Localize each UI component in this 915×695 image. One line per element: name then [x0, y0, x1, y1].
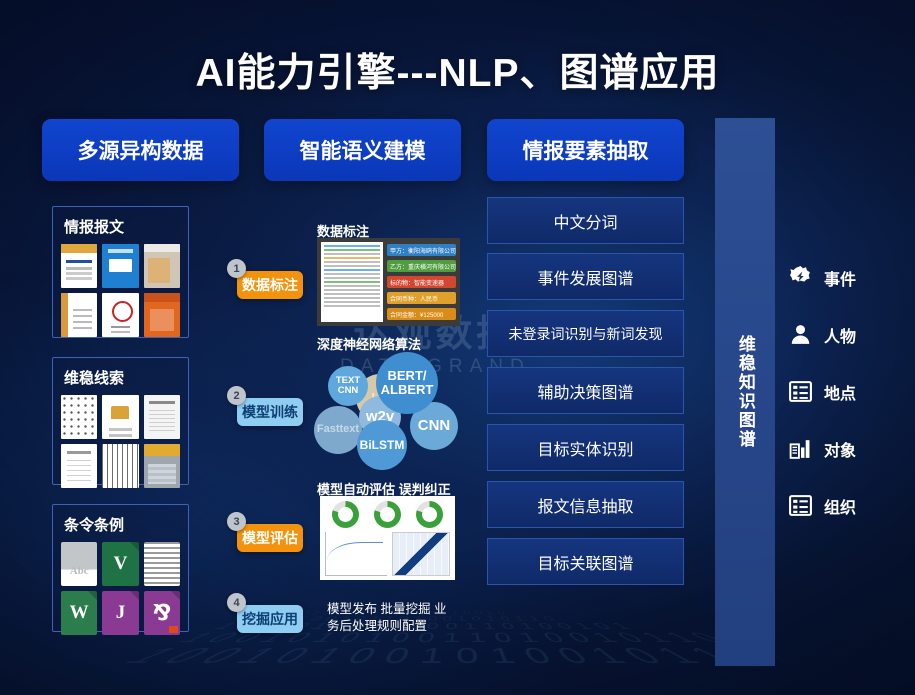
entity-tag-list: 甲方：衡阳海鸥有限公司 乙方：重庆横河有限公司 标的物：智能变速器 合同币种：人… [387, 242, 456, 322]
legend-item-organization[interactable]: 组织 [788, 493, 856, 518]
model-bubble-bilstm: BiLSTM [357, 420, 407, 470]
legend-label: 组织 [824, 494, 856, 518]
doc-line [324, 249, 380, 251]
source-panel-title: 情报报文 [64, 216, 180, 237]
model-bubble-label: CNN [418, 418, 451, 434]
document-thumbnail-grid [61, 244, 180, 337]
model-bubble-textcnn: TEXTCNN [328, 366, 368, 406]
entity-tag: 乙方：重庆横河有限公司 [387, 260, 456, 272]
page-title: AI能力引擎---NLP、图谱应用 [0, 42, 915, 98]
entity-tag: 合同金额：¥125000 [387, 308, 456, 320]
line-chart [325, 532, 387, 576]
capability-item-oov-discovery[interactable]: 未登录词识别与新词发现 [487, 310, 684, 357]
model-bubble-fasttext: Fasttext [314, 406, 362, 454]
doc-line [324, 301, 380, 303]
list-icon [788, 379, 813, 404]
event-burst-icon [788, 265, 813, 290]
annotation-screenshot: 甲方：衡阳海鸥有限公司 乙方：重庆横河有限公司 标的物：智能变速器 合同币种：人… [317, 238, 460, 326]
document-thumbnail [144, 395, 180, 439]
source-panel-title: 维稳线索 [64, 367, 180, 388]
entity-tag: 合同币种：人民币 [387, 292, 456, 304]
excel-file-icon: V [102, 542, 138, 586]
doc-line [324, 245, 380, 247]
model-bubble-bert-albert: BERT/ALBERT [376, 352, 438, 414]
document-thumbnail [102, 293, 138, 337]
step-chip-model-evaluation[interactable]: 3 模型评估 [237, 524, 303, 552]
document-thumbnail-grid [61, 395, 180, 488]
chart-row [325, 532, 450, 576]
legend-item-location[interactable]: 地点 [788, 379, 856, 404]
knowledge-graph-bar-label: 维稳知识图谱 [735, 335, 755, 449]
step-number: 3 [227, 512, 246, 531]
legend-item-person[interactable]: 人物 [788, 322, 856, 347]
step-chip-data-annotation[interactable]: 1 数据标注 [237, 271, 303, 299]
source-panel-regulations: 条令条例 Abc V W J ⅋ [52, 504, 189, 632]
document-thumbnail [61, 244, 97, 288]
donut-gauge [332, 501, 359, 528]
doc-line [324, 297, 380, 299]
step-number: 1 [227, 259, 246, 278]
source-panel-stability-clues: 维稳线索 [52, 357, 189, 485]
pdf-file-icon: ⅋ [144, 591, 180, 635]
doc-line [324, 273, 380, 275]
doc-line [324, 261, 380, 263]
document-thumbnail [61, 395, 97, 439]
donut-gauge [374, 501, 401, 528]
step-number: 2 [227, 386, 246, 405]
doc-line [324, 269, 380, 271]
word-file-icon: W [61, 591, 97, 635]
annotation-document-preview [321, 242, 383, 322]
file-icon-grid: Abc V W J ⅋ [61, 542, 180, 635]
gauge-row [325, 501, 450, 528]
document-thumbnail [61, 293, 97, 337]
step-label: 模型评估 [242, 528, 298, 548]
capability-item-entity-recognition[interactable]: 目标实体识别 [487, 424, 684, 471]
source-panel-title: 条令条例 [64, 514, 180, 535]
step-label: 模型训练 [242, 402, 298, 422]
document-thumbnail [102, 244, 138, 288]
legend-label: 事件 [824, 266, 856, 290]
doc-line [324, 281, 380, 283]
doc-line [324, 257, 380, 259]
capability-item-word-segmentation[interactable]: 中文分词 [487, 197, 684, 244]
legend-item-object[interactable]: 对象 [788, 436, 856, 461]
donut-gauge [416, 501, 443, 528]
buildings-chart-icon [788, 436, 813, 461]
model-bubble-label: Fasttext [317, 424, 359, 436]
document-thumbnail [144, 444, 180, 488]
legend-label: 地点 [824, 380, 856, 404]
list-icon [788, 493, 813, 518]
plain-document-icon [144, 542, 180, 586]
confusion-matrix-heatmap [392, 532, 450, 576]
entity-tag: 标的物：智能变速器 [387, 276, 456, 288]
person-icon [788, 322, 813, 347]
step-chip-mining-application[interactable]: 4 挖掘应用 [237, 605, 303, 633]
json-file-icon: J [102, 591, 138, 635]
header-pill-semantic-modeling[interactable]: 智能语义建模 [264, 119, 461, 181]
doc-line [324, 253, 380, 255]
capability-item-decision-graph[interactable]: 辅助决策图谱 [487, 367, 684, 414]
header-pill-element-extraction[interactable]: 情报要素抽取 [487, 119, 684, 181]
step-label: 数据标注 [242, 275, 298, 295]
step-number: 4 [227, 593, 246, 612]
legend-label: 对象 [824, 437, 856, 461]
doc-line [324, 277, 380, 279]
doc-line [324, 289, 380, 291]
model-bubble-label: TEXTCNN [336, 376, 360, 396]
legend-label: 人物 [824, 323, 856, 347]
knowledge-graph-bar[interactable]: 维稳知识图谱 [715, 118, 775, 666]
document-thumbnail [144, 244, 180, 288]
model-bubble-cluster: TEXTCNN LR BERT/ALBERT w2v Fasttext BiLS… [314, 352, 466, 472]
middle-label-deployment: 模型发布 批量挖掘 业务后处理规则配置 [327, 601, 447, 635]
source-panel-intelligence-reports: 情报报文 [52, 206, 189, 338]
entity-tag: 甲方：衡阳海鸥有限公司 [387, 244, 456, 256]
capability-item-message-extraction[interactable]: 报文信息抽取 [487, 481, 684, 528]
text-file-icon: Abc [61, 542, 97, 586]
document-thumbnail [102, 444, 138, 488]
legend-item-event[interactable]: 事件 [788, 265, 856, 290]
capability-item-event-graph[interactable]: 事件发展图谱 [487, 253, 684, 300]
step-chip-model-training[interactable]: 2 模型训练 [237, 398, 303, 426]
evaluation-dashboard-screenshot [320, 496, 455, 580]
model-bubble-label: BERT/ALBERT [381, 369, 434, 396]
document-thumbnail [144, 293, 180, 337]
step-label: 挖掘应用 [242, 609, 298, 629]
doc-line [324, 265, 380, 267]
pdf-glyph: ⅋ [152, 601, 171, 626]
doc-line [324, 305, 380, 307]
middle-label-algorithm: 深度神经网络算法 [317, 334, 421, 353]
document-thumbnail [102, 395, 138, 439]
header-pill-data-sources[interactable]: 多源异构数据 [42, 119, 239, 181]
capability-item-relation-graph[interactable]: 目标关联图谱 [487, 538, 684, 585]
document-thumbnail [61, 444, 97, 488]
doc-line [324, 285, 380, 287]
model-bubble-label: BiLSTM [360, 439, 405, 452]
doc-line [324, 293, 380, 295]
